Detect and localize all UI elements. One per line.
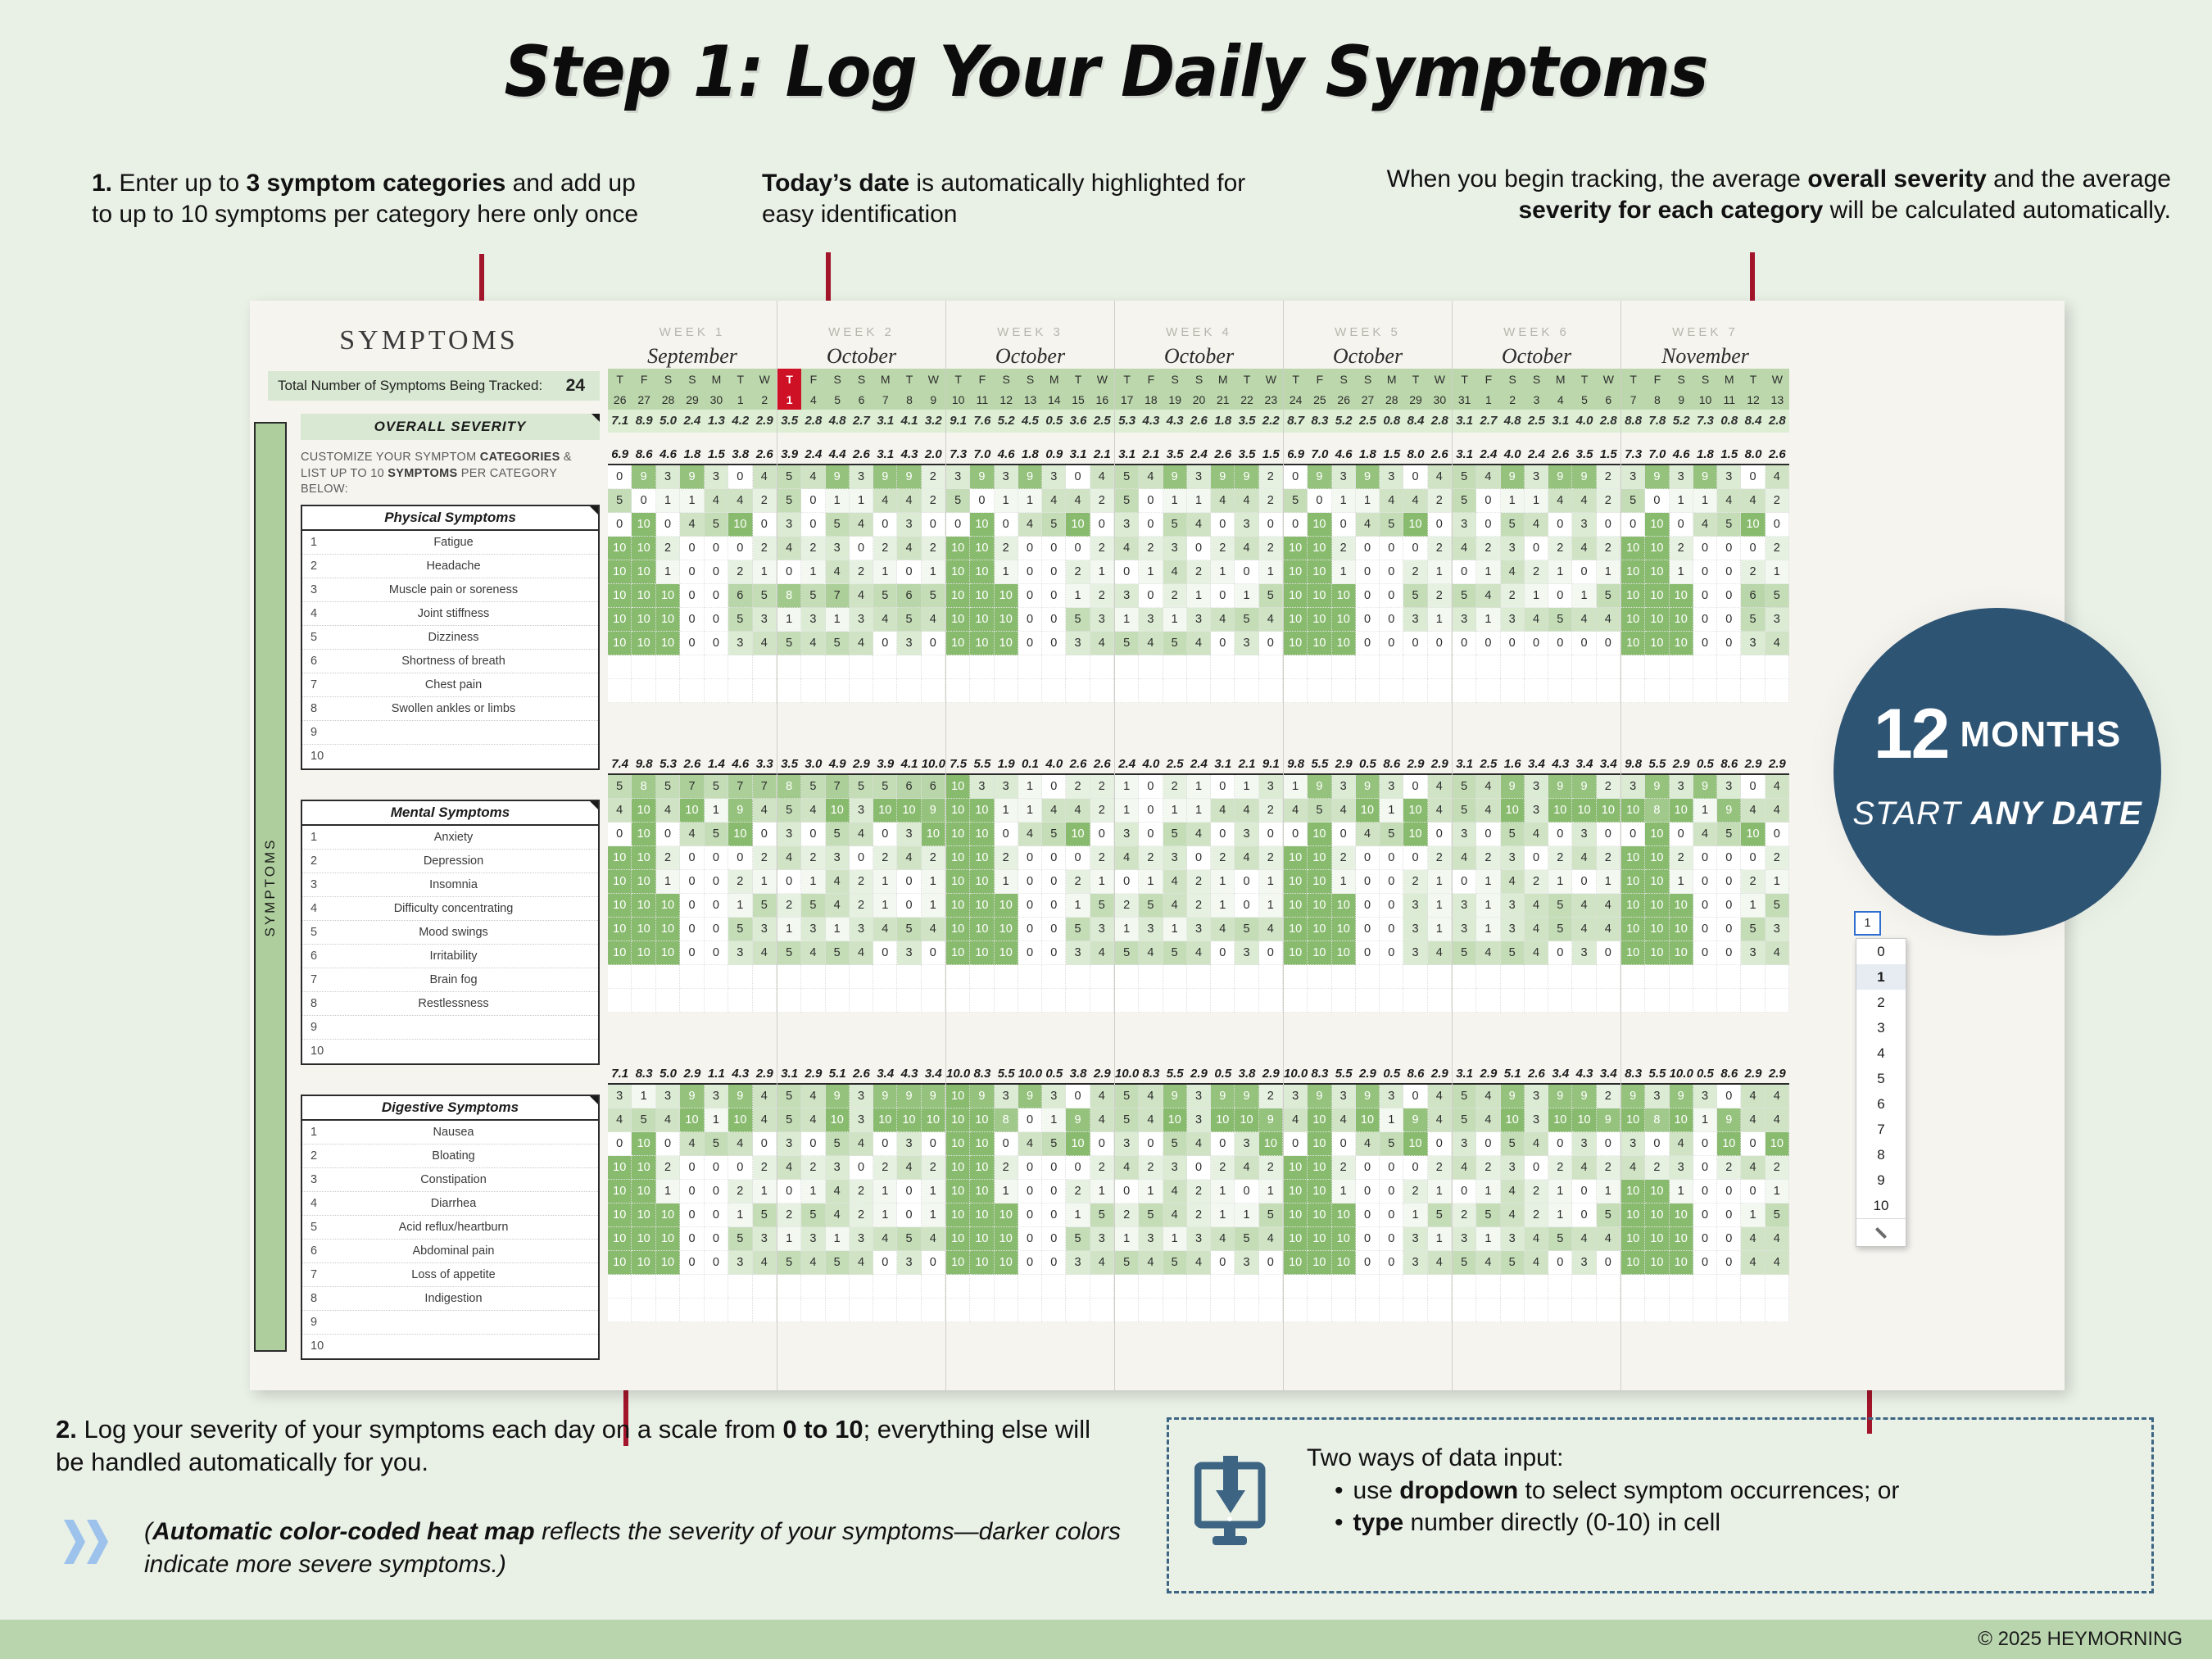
heatmap-cell[interactable] bbox=[1284, 965, 1308, 989]
heatmap-cell[interactable]: 5 bbox=[1259, 584, 1283, 608]
heatmap-cell[interactable] bbox=[1187, 1299, 1211, 1322]
symptom-row[interactable]: 10 bbox=[302, 1040, 598, 1063]
heatmap-cell[interactable]: 5 bbox=[777, 799, 801, 823]
heatmap-cell[interactable] bbox=[1187, 1275, 1211, 1299]
heatmap-cell[interactable]: 0 bbox=[1501, 632, 1525, 655]
heatmap-cell[interactable]: 10 bbox=[946, 799, 970, 823]
heatmap-cell[interactable]: 9 bbox=[1693, 775, 1717, 799]
heatmap-cell[interactable] bbox=[1211, 655, 1235, 679]
heatmap-cell[interactable]: 1 bbox=[922, 560, 945, 584]
heatmap-cell[interactable]: 0 bbox=[728, 537, 752, 560]
heatmap-cell[interactable]: 5 bbox=[1453, 941, 1476, 965]
heatmap-cell[interactable]: 0 bbox=[922, 513, 945, 537]
heatmap-cell[interactable]: 0 bbox=[1693, 870, 1717, 894]
heatmap-cell[interactable] bbox=[1548, 989, 1572, 1013]
heatmap-cell[interactable]: 4 bbox=[1235, 1156, 1258, 1180]
heatmap-cell[interactable]: 1 bbox=[777, 608, 801, 632]
heatmap-cell[interactable]: 5 bbox=[777, 941, 801, 965]
heatmap-cell[interactable]: 5 bbox=[826, 1132, 850, 1156]
heatmap-cell[interactable]: 9 bbox=[873, 465, 897, 489]
heatmap-cell[interactable]: 1 bbox=[1501, 489, 1525, 513]
heatmap-cell[interactable]: 0 bbox=[728, 465, 752, 489]
heatmap-cell[interactable]: 5 bbox=[1042, 823, 1066, 846]
heatmap-cell[interactable]: 10 bbox=[1284, 846, 1308, 870]
heatmap-cell[interactable]: 3 bbox=[1645, 1085, 1669, 1108]
heatmap-cell[interactable]: 9 bbox=[1548, 1085, 1572, 1108]
heatmap-cell[interactable]: 3 bbox=[1525, 1108, 1548, 1132]
heatmap-cell[interactable]: 1 bbox=[753, 870, 777, 894]
heatmap-cell[interactable]: 0 bbox=[1741, 1180, 1765, 1203]
heatmap-cell[interactable]: 0 bbox=[1597, 823, 1620, 846]
heatmap-cell[interactable]: 10 bbox=[608, 870, 632, 894]
heatmap-cell[interactable] bbox=[753, 1275, 777, 1299]
heatmap-cell[interactable]: 6 bbox=[1741, 584, 1765, 608]
heatmap-cell[interactable] bbox=[946, 965, 970, 989]
heatmap-cell[interactable] bbox=[1066, 679, 1090, 703]
heatmap-cell[interactable]: 9 bbox=[1235, 465, 1258, 489]
heatmap-cell[interactable]: 0 bbox=[656, 1132, 680, 1156]
heatmap-cell[interactable]: 3 bbox=[1572, 823, 1596, 846]
heatmap-cell[interactable]: 2 bbox=[1090, 1156, 1114, 1180]
heatmap-cell[interactable]: 0 bbox=[1139, 823, 1163, 846]
symptom-label[interactable]: Mood swings bbox=[330, 926, 598, 939]
heatmap-cell[interactable]: 3 bbox=[1501, 537, 1525, 560]
heatmap-cell[interactable]: 2 bbox=[1525, 560, 1548, 584]
heatmap-cell[interactable] bbox=[1476, 655, 1500, 679]
heatmap-cell[interactable]: 1 bbox=[1766, 870, 1789, 894]
heatmap-cell[interactable]: 0 bbox=[1356, 632, 1380, 655]
heatmap-cell[interactable]: 0 bbox=[995, 823, 1018, 846]
heatmap-cell[interactable]: 3 bbox=[897, 632, 921, 655]
heatmap-cell[interactable]: 0 bbox=[1741, 465, 1765, 489]
heatmap-cell[interactable]: 0 bbox=[1356, 608, 1380, 632]
heatmap-cell[interactable]: 2 bbox=[1211, 537, 1235, 560]
heatmap-cell[interactable]: 1 bbox=[728, 1203, 752, 1227]
heatmap-cell[interactable]: 10 bbox=[1621, 1227, 1645, 1251]
heatmap-cell[interactable]: 10 bbox=[897, 799, 921, 823]
heatmap-cell[interactable]: 3 bbox=[1453, 608, 1476, 632]
heatmap-cell[interactable] bbox=[1259, 679, 1283, 703]
heatmap-cell[interactable]: 5 bbox=[1090, 894, 1114, 918]
heatmap-cell[interactable]: 0 bbox=[1042, 870, 1066, 894]
heatmap-cell[interactable]: 4 bbox=[1572, 846, 1596, 870]
heatmap-cell[interactable]: 2 bbox=[1115, 1203, 1139, 1227]
heatmap-cell[interactable] bbox=[1356, 1275, 1380, 1299]
heatmap-cell[interactable] bbox=[826, 655, 850, 679]
heatmap-cell[interactable]: 10 bbox=[1284, 1251, 1308, 1275]
heatmap-cell[interactable]: 2 bbox=[995, 846, 1018, 870]
heatmap-cell[interactable]: 10 bbox=[995, 584, 1018, 608]
heatmap-cell[interactable] bbox=[995, 1275, 1018, 1299]
heatmap-cell[interactable]: 10 bbox=[1403, 823, 1427, 846]
heatmap-cell[interactable]: 2 bbox=[1090, 846, 1114, 870]
heatmap-cell[interactable]: 0 bbox=[1717, 584, 1741, 608]
heatmap-cell[interactable]: 9 bbox=[1501, 465, 1525, 489]
heatmap-cell[interactable]: 0 bbox=[1042, 632, 1066, 655]
heatmap-cell[interactable]: 4 bbox=[850, 941, 873, 965]
heatmap-cell[interactable]: 0 bbox=[1548, 632, 1572, 655]
heatmap-cell[interactable]: 4 bbox=[1476, 584, 1500, 608]
heatmap-cell[interactable]: 10 bbox=[1308, 584, 1331, 608]
heatmap-cell[interactable]: 1 bbox=[1525, 584, 1548, 608]
heatmap-cell[interactable]: 10 bbox=[946, 1227, 970, 1251]
heatmap-cell[interactable] bbox=[1163, 655, 1187, 679]
heatmap-cell[interactable]: 2 bbox=[1066, 775, 1090, 799]
heatmap-cell[interactable]: 3 bbox=[1501, 918, 1525, 941]
heatmap-cell[interactable]: 10 bbox=[946, 1085, 970, 1108]
heatmap-cell[interactable]: 2 bbox=[1501, 584, 1525, 608]
heatmap-cell[interactable]: 2 bbox=[1066, 870, 1090, 894]
heatmap-cell[interactable]: 10 bbox=[1235, 1108, 1258, 1132]
heatmap-cell[interactable]: 0 bbox=[1476, 1132, 1500, 1156]
heatmap-cell[interactable] bbox=[850, 679, 873, 703]
heatmap-cell[interactable]: 4 bbox=[1670, 1132, 1693, 1156]
heatmap-cell[interactable]: 4 bbox=[1741, 1251, 1765, 1275]
heatmap-cell[interactable] bbox=[1139, 965, 1163, 989]
heatmap-cell[interactable]: 3 bbox=[1380, 775, 1403, 799]
heatmap-cell[interactable]: 2 bbox=[1090, 489, 1114, 513]
heatmap-cell[interactable]: 5 bbox=[1115, 465, 1139, 489]
heatmap-cell[interactable]: 1 bbox=[1163, 918, 1187, 941]
heatmap-cell[interactable] bbox=[1403, 679, 1427, 703]
heatmap-cell[interactable] bbox=[1356, 965, 1380, 989]
heatmap-cell[interactable]: 10 bbox=[995, 941, 1018, 965]
heatmap-cell[interactable] bbox=[1453, 989, 1476, 1013]
heatmap-cell[interactable]: 8 bbox=[632, 775, 655, 799]
heatmap-cell[interactable]: 2 bbox=[1332, 537, 1356, 560]
symptom-label[interactable]: Diarrhea bbox=[330, 1197, 598, 1210]
heatmap-cell[interactable]: 2 bbox=[777, 894, 801, 918]
heatmap-cell[interactable]: 0 bbox=[1042, 560, 1066, 584]
heatmap-cell[interactable]: 2 bbox=[1597, 465, 1620, 489]
heatmap-cell[interactable]: 5 bbox=[1139, 894, 1163, 918]
heatmap-cell[interactable]: 2 bbox=[1548, 1156, 1572, 1180]
heatmap-cell[interactable]: 5 bbox=[1115, 1108, 1139, 1132]
symptom-row[interactable]: 10 bbox=[302, 745, 598, 768]
heatmap-cell[interactable]: 2 bbox=[1403, 560, 1427, 584]
heatmap-cell[interactable]: 1 bbox=[705, 1108, 728, 1132]
heatmap-cell[interactable]: 0 bbox=[1693, 1180, 1717, 1203]
heatmap-cell[interactable]: 2 bbox=[850, 894, 873, 918]
heatmap-cell[interactable]: 0 bbox=[801, 489, 825, 513]
heatmap-cell[interactable]: 1 bbox=[801, 560, 825, 584]
heatmap-cell[interactable]: 10 bbox=[656, 608, 680, 632]
heatmap-cell[interactable]: 0 bbox=[632, 489, 655, 513]
heatmap-cell[interactable] bbox=[1717, 679, 1741, 703]
heatmap-cell[interactable]: 0 bbox=[970, 489, 994, 513]
heatmap-cell[interactable]: 0 bbox=[1018, 1108, 1042, 1132]
heatmap-cell[interactable] bbox=[1066, 1275, 1090, 1299]
heatmap-cell[interactable]: 0 bbox=[1187, 1156, 1211, 1180]
heatmap-cell[interactable]: 10 bbox=[656, 941, 680, 965]
heatmap-cell[interactable]: 5 bbox=[1066, 608, 1090, 632]
heatmap-cell[interactable]: 7 bbox=[826, 775, 850, 799]
heatmap-cell[interactable]: 0 bbox=[1717, 870, 1741, 894]
heatmap-cell[interactable]: 1 bbox=[1476, 870, 1500, 894]
heatmap-cell[interactable]: 3 bbox=[1572, 513, 1596, 537]
heatmap-cell[interactable]: 10 bbox=[826, 799, 850, 823]
heatmap-cell[interactable] bbox=[680, 655, 704, 679]
heatmap-cell[interactable]: 0 bbox=[1380, 608, 1403, 632]
heatmap-cell[interactable]: 4 bbox=[801, 632, 825, 655]
heatmap-cell[interactable]: 9 bbox=[1211, 1085, 1235, 1108]
heatmap-cell[interactable]: 0 bbox=[897, 870, 921, 894]
heatmap-cell[interactable]: 10 bbox=[1284, 584, 1308, 608]
heatmap-cell[interactable]: 10 bbox=[970, 1180, 994, 1203]
heatmap-cell[interactable]: 4 bbox=[922, 918, 945, 941]
heatmap-cell[interactable]: 10 bbox=[946, 846, 970, 870]
heatmap-cell[interactable] bbox=[1428, 965, 1452, 989]
heatmap-cell[interactable]: 10 bbox=[1621, 1203, 1645, 1227]
heatmap-cell[interactable]: 4 bbox=[1476, 465, 1500, 489]
heatmap-cell[interactable] bbox=[1403, 655, 1427, 679]
heatmap-cell[interactable]: 5 bbox=[1115, 941, 1139, 965]
heatmap-cell[interactable]: 0 bbox=[656, 823, 680, 846]
heatmap-cell[interactable] bbox=[1090, 1275, 1114, 1299]
heatmap-cell[interactable]: 0 bbox=[1356, 941, 1380, 965]
heatmap-cell[interactable]: 4 bbox=[1356, 1132, 1380, 1156]
heatmap-cell[interactable]: 10 bbox=[873, 799, 897, 823]
heatmap-cell[interactable] bbox=[1115, 1299, 1139, 1322]
dropdown-option[interactable]: 3 bbox=[1856, 1015, 1906, 1040]
heatmap-cell[interactable] bbox=[1501, 1275, 1525, 1299]
heatmap-cell[interactable]: 1 bbox=[1476, 1180, 1500, 1203]
heatmap-cell[interactable] bbox=[1187, 655, 1211, 679]
heatmap-cell[interactable]: 5 bbox=[1380, 823, 1403, 846]
heatmap-cell[interactable]: 0 bbox=[1211, 1132, 1235, 1156]
heatmap-cell[interactable]: 10 bbox=[656, 632, 680, 655]
heatmap-cell[interactable]: 1 bbox=[1187, 799, 1211, 823]
symptom-row[interactable]: 10 bbox=[302, 1335, 598, 1358]
heatmap-cell[interactable]: 4 bbox=[1139, 1085, 1163, 1108]
heatmap-cell[interactable] bbox=[1211, 1299, 1235, 1322]
heatmap-cell[interactable]: 0 bbox=[1356, 1156, 1380, 1180]
heatmap-cell[interactable]: 0 bbox=[1548, 941, 1572, 965]
heatmap-cell[interactable]: 1 bbox=[1042, 1108, 1066, 1132]
heatmap-cell[interactable]: 2 bbox=[1163, 775, 1187, 799]
heatmap-cell[interactable]: 1 bbox=[1259, 870, 1283, 894]
heatmap-cell[interactable] bbox=[728, 679, 752, 703]
heatmap-cell[interactable] bbox=[922, 679, 945, 703]
heatmap-cell[interactable]: 10 bbox=[1332, 894, 1356, 918]
symptom-label[interactable]: Nausea bbox=[330, 1126, 598, 1139]
heatmap-cell[interactable]: 0 bbox=[1066, 465, 1090, 489]
heatmap-cell[interactable] bbox=[728, 655, 752, 679]
heatmap-cell[interactable]: 10 bbox=[1403, 799, 1427, 823]
heatmap-cell[interactable] bbox=[1380, 679, 1403, 703]
heatmap-cell[interactable]: 0 bbox=[680, 918, 704, 941]
heatmap-cell[interactable]: 0 bbox=[1356, 870, 1380, 894]
heatmap-cell[interactable]: 3 bbox=[801, 918, 825, 941]
heatmap-cell[interactable]: 4 bbox=[1211, 799, 1235, 823]
heatmap-cell[interactable]: 2 bbox=[1597, 537, 1620, 560]
heatmap-cell[interactable]: 2 bbox=[1428, 846, 1452, 870]
heatmap-cell[interactable]: 9 bbox=[826, 465, 850, 489]
heatmap-cell[interactable]: 10 bbox=[946, 1108, 970, 1132]
heatmap-cell[interactable] bbox=[1259, 1299, 1283, 1322]
heatmap-cell[interactable]: 2 bbox=[995, 537, 1018, 560]
heatmap-cell[interactable]: 3 bbox=[897, 1251, 921, 1275]
heatmap-cell[interactable]: 0 bbox=[1042, 775, 1066, 799]
heatmap-cell[interactable]: 0 bbox=[1380, 1203, 1403, 1227]
heatmap-cell[interactable]: 10 bbox=[1284, 1227, 1308, 1251]
heatmap-cell[interactable]: 5 bbox=[1501, 1132, 1525, 1156]
heatmap-cell[interactable]: 5 bbox=[1548, 918, 1572, 941]
heatmap-cell[interactable]: 4 bbox=[1259, 918, 1283, 941]
heatmap-cell[interactable]: 5 bbox=[1163, 823, 1187, 846]
heatmap-cell[interactable]: 0 bbox=[1356, 894, 1380, 918]
heatmap-cell[interactable]: 3 bbox=[1670, 465, 1693, 489]
heatmap-cell[interactable]: 2 bbox=[1090, 799, 1114, 823]
heatmap-cell[interactable] bbox=[1211, 989, 1235, 1013]
heatmap-cell[interactable]: 2 bbox=[873, 537, 897, 560]
heatmap-cell[interactable] bbox=[1572, 1299, 1596, 1322]
heatmap-cell[interactable]: 0 bbox=[1741, 775, 1765, 799]
heatmap-cell[interactable]: 10 bbox=[1645, 1251, 1669, 1275]
heatmap-cell[interactable] bbox=[970, 655, 994, 679]
heatmap-cell[interactable]: 10 bbox=[1670, 799, 1693, 823]
heatmap-cell[interactable] bbox=[850, 989, 873, 1013]
heatmap-cell[interactable]: 2 bbox=[1211, 1156, 1235, 1180]
heatmap-cell[interactable]: 10 bbox=[1308, 894, 1331, 918]
heatmap-cell[interactable]: 9 bbox=[632, 465, 655, 489]
heatmap-cell[interactable]: 10 bbox=[1066, 1132, 1090, 1156]
heatmap-cell[interactable]: 10 bbox=[656, 584, 680, 608]
heatmap-cell[interactable]: 0 bbox=[1211, 823, 1235, 846]
heatmap-cell[interactable] bbox=[1380, 1275, 1403, 1299]
heatmap-cell[interactable]: 0 bbox=[1042, 608, 1066, 632]
heatmap-cell[interactable] bbox=[1645, 989, 1669, 1013]
heatmap-cell[interactable]: 10 bbox=[1332, 1251, 1356, 1275]
heatmap-cell[interactable] bbox=[1090, 1299, 1114, 1322]
heatmap-cell[interactable] bbox=[1428, 679, 1452, 703]
heatmap-cell[interactable]: 0 bbox=[1717, 560, 1741, 584]
heatmap-cell[interactable]: 3 bbox=[1115, 1132, 1139, 1156]
heatmap-cell[interactable] bbox=[1741, 655, 1765, 679]
heatmap-cell[interactable]: 1 bbox=[1090, 1180, 1114, 1203]
heatmap-cell[interactable]: 10 bbox=[1645, 608, 1669, 632]
heatmap-cell[interactable]: 3 bbox=[728, 632, 752, 655]
heatmap-cell[interactable]: 5 bbox=[1621, 489, 1645, 513]
heatmap-cell[interactable]: 5 bbox=[873, 584, 897, 608]
heatmap-cell[interactable]: 0 bbox=[1403, 775, 1427, 799]
heatmap-cell[interactable]: 0 bbox=[1717, 608, 1741, 632]
heatmap-cell[interactable]: 1 bbox=[1139, 870, 1163, 894]
heatmap-cell[interactable] bbox=[680, 679, 704, 703]
heatmap-cell[interactable]: 8 bbox=[777, 775, 801, 799]
heatmap-cell[interactable]: 3 bbox=[1380, 465, 1403, 489]
dropdown-option[interactable]: 5 bbox=[1856, 1066, 1906, 1091]
heatmap-cell[interactable]: 9 bbox=[1308, 465, 1331, 489]
heatmap-cell[interactable] bbox=[1766, 655, 1789, 679]
heatmap-cell[interactable]: 0 bbox=[1597, 513, 1620, 537]
heatmap-cell[interactable] bbox=[1308, 989, 1331, 1013]
heatmap-cell[interactable]: 3 bbox=[1572, 1132, 1596, 1156]
heatmap-cell[interactable] bbox=[1235, 965, 1258, 989]
heatmap-cell[interactable] bbox=[1380, 1299, 1403, 1322]
heatmap-cell[interactable]: 10 bbox=[632, 894, 655, 918]
heatmap-cell[interactable]: 5 bbox=[826, 941, 850, 965]
heatmap-cell[interactable]: 10 bbox=[1308, 632, 1331, 655]
heatmap-cell[interactable]: 10 bbox=[632, 537, 655, 560]
heatmap-cell[interactable]: 5 bbox=[705, 823, 728, 846]
heatmap-cell[interactable]: 0 bbox=[705, 1227, 728, 1251]
heatmap-cell[interactable] bbox=[1597, 989, 1620, 1013]
heatmap-cell[interactable] bbox=[1115, 655, 1139, 679]
heatmap-cell[interactable]: 10 bbox=[946, 1156, 970, 1180]
heatmap-cell[interactable]: 9 bbox=[1693, 465, 1717, 489]
heatmap-cell[interactable]: 4 bbox=[1090, 1251, 1114, 1275]
heatmap-cell[interactable]: 0 bbox=[1066, 846, 1090, 870]
heatmap-cell[interactable] bbox=[995, 655, 1018, 679]
heatmap-cell[interactable]: 1 bbox=[1187, 489, 1211, 513]
heatmap-cell[interactable] bbox=[753, 679, 777, 703]
heatmap-cell[interactable]: 4 bbox=[1018, 1132, 1042, 1156]
heatmap-cell[interactable]: 4 bbox=[1428, 941, 1452, 965]
heatmap-cell[interactable]: 0 bbox=[1621, 513, 1645, 537]
heatmap-cell[interactable] bbox=[1211, 965, 1235, 989]
heatmap-cell[interactable] bbox=[1693, 679, 1717, 703]
heatmap-cell[interactable] bbox=[1548, 679, 1572, 703]
heatmap-cell[interactable]: 10 bbox=[970, 1132, 994, 1156]
heatmap-cell[interactable]: 10 bbox=[1621, 560, 1645, 584]
heatmap-cell[interactable] bbox=[656, 989, 680, 1013]
heatmap-cell[interactable]: 0 bbox=[1453, 560, 1476, 584]
heatmap-cell[interactable]: 0 bbox=[777, 870, 801, 894]
heatmap-cell[interactable]: 1 bbox=[1476, 608, 1500, 632]
heatmap-cell[interactable]: 2 bbox=[1766, 489, 1789, 513]
heatmap-cell[interactable]: 1 bbox=[1380, 1108, 1403, 1132]
symptom-row[interactable]: 5Dizziness bbox=[302, 626, 598, 650]
heatmap-cell[interactable] bbox=[1187, 679, 1211, 703]
heatmap-cell[interactable] bbox=[801, 965, 825, 989]
heatmap-cell[interactable] bbox=[656, 965, 680, 989]
heatmap-cell[interactable]: 3 bbox=[1572, 941, 1596, 965]
symptom-row[interactable]: 6Shortness of breath bbox=[302, 650, 598, 673]
heatmap-cell[interactable]: 0 bbox=[1621, 823, 1645, 846]
heatmap-cell[interactable] bbox=[1572, 655, 1596, 679]
heatmap-cell[interactable] bbox=[922, 989, 945, 1013]
heatmap-cell[interactable] bbox=[1403, 1299, 1427, 1322]
heatmap-cell[interactable]: 10 bbox=[1645, 823, 1669, 846]
heatmap-cell[interactable] bbox=[1403, 965, 1427, 989]
heatmap-cell[interactable]: 5 bbox=[1235, 608, 1258, 632]
heatmap-cell[interactable]: 1 bbox=[1115, 775, 1139, 799]
heatmap-cell[interactable]: 10 bbox=[1308, 513, 1331, 537]
heatmap-cell[interactable] bbox=[656, 655, 680, 679]
heatmap-cell[interactable]: 9 bbox=[826, 1085, 850, 1108]
heatmap-cell[interactable] bbox=[1332, 989, 1356, 1013]
heatmap-cell[interactable] bbox=[1501, 965, 1525, 989]
heatmap-cell[interactable]: 10 bbox=[970, 823, 994, 846]
heatmap-cell[interactable]: 0 bbox=[705, 1180, 728, 1203]
heatmap-cell[interactable] bbox=[753, 965, 777, 989]
heatmap-cell[interactable] bbox=[826, 989, 850, 1013]
heatmap-cell[interactable]: 2 bbox=[1187, 870, 1211, 894]
heatmap-cell[interactable]: 10 bbox=[728, 823, 752, 846]
heatmap-cell[interactable]: 4 bbox=[897, 489, 921, 513]
heatmap-cell[interactable]: 10 bbox=[1645, 1203, 1669, 1227]
heatmap-cell[interactable] bbox=[1284, 655, 1308, 679]
heatmap-cell[interactable]: 0 bbox=[1211, 1251, 1235, 1275]
heatmap-cell[interactable]: 0 bbox=[1693, 1156, 1717, 1180]
heatmap-cell[interactable]: 10 bbox=[946, 823, 970, 846]
heatmap-cell[interactable] bbox=[946, 989, 970, 1013]
heatmap-cell[interactable] bbox=[1115, 1275, 1139, 1299]
heatmap-cell[interactable]: 0 bbox=[1693, 1251, 1717, 1275]
heatmap-cell[interactable]: 1 bbox=[1741, 1203, 1765, 1227]
heatmap-cell[interactable] bbox=[1645, 1275, 1669, 1299]
